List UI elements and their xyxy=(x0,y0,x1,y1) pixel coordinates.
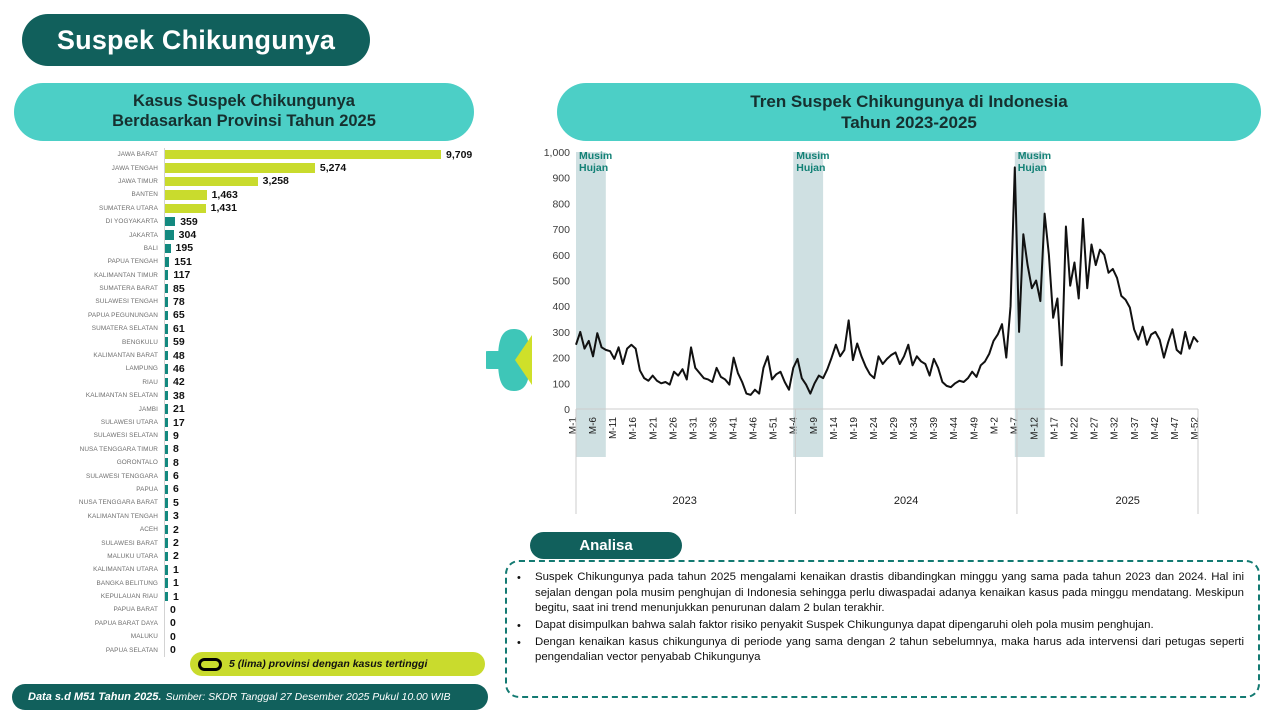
bar-track: 85 xyxy=(164,282,488,295)
bar-track: 46 xyxy=(164,362,488,375)
bar-fill xyxy=(165,498,168,508)
bar-fill xyxy=(165,565,168,575)
analisa-label-text: Analisa xyxy=(579,537,632,554)
bar-track: 1 xyxy=(164,577,488,590)
x-axis-tick-label: M-49 xyxy=(969,417,980,440)
bar-track: 2 xyxy=(164,550,488,563)
x-axis-tick-label: M-7 xyxy=(1009,417,1020,435)
bar-value-label: 151 xyxy=(174,256,192,268)
bar-value-label: 1,463 xyxy=(212,189,238,201)
bar-row: LAMPUNG46 xyxy=(58,362,488,375)
bar-chart-legend-text: 5 (lima) provinsi dengan kasus tertinggi xyxy=(229,658,427,670)
bar-value-label: 5,274 xyxy=(320,162,346,174)
x-axis-tick-label: M-2 xyxy=(989,417,1000,435)
right-chart-title: Tren Suspek Chikungunya di Indonesia Tah… xyxy=(557,83,1261,141)
bar-row: DI YOGYAKARTA359 xyxy=(58,215,488,228)
bar-value-label: 17 xyxy=(173,417,185,429)
bar-track: 195 xyxy=(164,242,488,255)
x-axis-tick-label: M-22 xyxy=(1070,417,1081,440)
bar-track: 3 xyxy=(164,510,488,523)
bar-fill xyxy=(165,404,168,414)
bar-chart-legend: 5 (lima) provinsi dengan kasus tertinggi xyxy=(190,652,485,676)
bar-row: SULAWESI SELATAN9 xyxy=(58,429,488,442)
bar-category-label: NUSA TENGGARA TIMUR xyxy=(58,446,164,453)
bar-track: 8 xyxy=(164,456,488,469)
bar-row: PAPUA PEGUNUNGAN65 xyxy=(58,309,488,322)
bar-value-label: 59 xyxy=(173,336,185,348)
bar-fill xyxy=(165,284,168,294)
bar-value-label: 78 xyxy=(173,296,185,308)
bar-track: 78 xyxy=(164,295,488,308)
bar-value-label: 0 xyxy=(170,631,176,643)
bar-fill xyxy=(165,378,168,388)
bar-value-label: 85 xyxy=(173,283,185,295)
bar-fill xyxy=(165,391,168,401)
bar-track: 59 xyxy=(164,335,488,348)
bar-category-label: BANTEN xyxy=(58,191,164,198)
x-axis-tick-label: M-51 xyxy=(769,417,780,440)
x-axis-tick-label: M-52 xyxy=(1190,417,1201,440)
bar-category-label: JAWA TENGAH xyxy=(58,165,164,172)
bar-category-label: SULAWESI UTARA xyxy=(58,419,164,426)
x-axis-tick-label: M-21 xyxy=(648,417,659,440)
y-axis-tick-label: 700 xyxy=(552,224,570,236)
y-axis-tick-label: 800 xyxy=(552,198,570,210)
bar-category-label: MALUKU xyxy=(58,633,164,640)
bar-category-label: SUMATERA BARAT xyxy=(58,285,164,292)
analisa-bullet-text: Dengan kenaikan kasus chikungunya di per… xyxy=(535,635,1244,666)
bar-track: 9,709 xyxy=(164,148,488,161)
bullet-icon: • xyxy=(517,635,525,666)
bar-category-label: KALIMANTAN TIMUR xyxy=(58,272,164,279)
bar-row: KALIMANTAN TENGAH3 xyxy=(58,510,488,523)
bar-row: JAMBI21 xyxy=(58,402,488,415)
bar-category-label: JAWA TIMUR xyxy=(58,178,164,185)
bar-category-label: BALI xyxy=(58,245,164,252)
bar-value-label: 0 xyxy=(170,604,176,616)
bar-row: GORONTALO8 xyxy=(58,456,488,469)
bar-row: ACEH2 xyxy=(58,523,488,536)
bar-category-label: PAPUA xyxy=(58,486,164,493)
right-chart-title-line2: Tahun 2023-2025 xyxy=(841,112,977,133)
bar-value-label: 0 xyxy=(170,617,176,629)
x-axis-tick-label: M-11 xyxy=(608,417,619,439)
bullet-icon: • xyxy=(517,570,525,617)
bar-track: 48 xyxy=(164,349,488,362)
bar-row: JAKARTA304 xyxy=(58,228,488,241)
bar-fill xyxy=(165,244,171,254)
bar-row: SUMATERA UTARA1,431 xyxy=(58,202,488,215)
bar-category-label: PAPUA BARAT xyxy=(58,606,164,613)
bar-category-label: PAPUA BARAT DAYA xyxy=(58,620,164,627)
x-axis-tick-label: M-14 xyxy=(829,417,840,440)
bar-category-label: RIAU xyxy=(58,379,164,386)
bar-fill xyxy=(165,311,168,321)
bar-track: 2 xyxy=(164,523,488,536)
bar-category-label: GORONTALO xyxy=(58,459,164,466)
rain-season-annotation: Musim Hujan xyxy=(579,150,625,174)
x-axis-tick-label: M-41 xyxy=(729,417,740,440)
bar-category-label: LAMPUNG xyxy=(58,365,164,372)
x-axis-tick-label: M-32 xyxy=(1110,417,1121,440)
bar-value-label: 42 xyxy=(173,376,185,388)
bar-track: 1,431 xyxy=(164,202,488,215)
rain-season-band xyxy=(793,152,823,457)
y-axis-tick-label: 500 xyxy=(552,276,570,288)
bar-row: KALIMANTAN SELATAN38 xyxy=(58,389,488,402)
bar-fill xyxy=(165,257,169,267)
y-axis-tick-label: 900 xyxy=(552,173,570,185)
bar-track: 42 xyxy=(164,376,488,389)
bar-track: 8 xyxy=(164,443,488,456)
bar-category-label: SULAWESI BARAT xyxy=(58,540,164,547)
bar-track: 5,274 xyxy=(164,161,488,174)
bar-fill xyxy=(165,552,168,562)
dashboard-canvas: Suspek Chikungunya Kasus Suspek Chikungu… xyxy=(0,0,1280,720)
bar-value-label: 48 xyxy=(173,350,185,362)
bar-row: BALI195 xyxy=(58,242,488,255)
x-axis-tick-label: M-29 xyxy=(889,417,900,440)
bar-category-label: JAMBI xyxy=(58,406,164,413)
bar-value-label: 9 xyxy=(173,430,179,442)
bar-track: 1 xyxy=(164,590,488,603)
bar-category-label: KALIMANTAN SELATAN xyxy=(58,392,164,399)
bar-row: MALUKU UTARA2 xyxy=(58,550,488,563)
bar-fill xyxy=(165,270,168,280)
footer-source-text: Sumber: SKDR Tanggal 27 Desember 2025 Pu… xyxy=(165,691,450,703)
bar-fill xyxy=(165,431,168,441)
bar-row: SUMATERA SELATAN61 xyxy=(58,322,488,335)
bar-value-label: 38 xyxy=(173,390,185,402)
bar-fill xyxy=(165,525,168,535)
bar-value-label: 65 xyxy=(173,309,185,321)
bar-category-label: SUMATERA SELATAN xyxy=(58,325,164,332)
bar-value-label: 8 xyxy=(173,443,179,455)
bar-track: 0 xyxy=(164,617,488,630)
bar-fill xyxy=(165,485,168,495)
bar-fill xyxy=(165,592,168,602)
bar-category-label: KALIMANTAN UTARA xyxy=(58,566,164,573)
bar-track: 3,258 xyxy=(164,175,488,188)
bar-row: PAPUA BARAT0 xyxy=(58,603,488,616)
bar-track: 65 xyxy=(164,309,488,322)
x-axis-tick-label: M-36 xyxy=(708,417,719,440)
bar-category-label: SULAWESI TENGGARA xyxy=(58,473,164,480)
bar-fill xyxy=(165,150,441,160)
bar-category-label: PAPUA TENGAH xyxy=(58,258,164,265)
x-axis-tick-label: M-31 xyxy=(688,417,699,440)
bar-value-label: 1 xyxy=(173,564,179,576)
bar-fill xyxy=(165,163,315,173)
right-chart-title-line1: Tren Suspek Chikungunya di Indonesia xyxy=(750,91,1067,112)
bar-fill xyxy=(165,538,168,548)
bar-track: 9 xyxy=(164,429,488,442)
bar-row: BENGKULU59 xyxy=(58,335,488,348)
left-chart-title-line2: Berdasarkan Provinsi Tahun 2025 xyxy=(112,112,376,132)
x-axis-year-label: 2025 xyxy=(1115,495,1139,507)
bar-value-label: 5 xyxy=(173,497,179,509)
analisa-bullet-item: •Dengan kenaikan kasus chikungunya di pe… xyxy=(517,635,1244,666)
left-chart-title-line1: Kasus Suspek Chikungunya xyxy=(133,92,355,112)
bar-row: PAPUA6 xyxy=(58,483,488,496)
bar-fill xyxy=(165,578,168,588)
bar-category-label: SUMATERA UTARA xyxy=(58,205,164,212)
x-axis-tick-label: M-39 xyxy=(929,417,940,440)
bar-value-label: 0 xyxy=(170,644,176,656)
y-axis-tick-label: 1,000 xyxy=(544,147,570,159)
bar-row: NUSA TENGGARA BARAT5 xyxy=(58,496,488,509)
bar-track: 1 xyxy=(164,563,488,576)
bar-category-label: DI YOGYAKARTA xyxy=(58,218,164,225)
bar-category-label: ACEH xyxy=(58,526,164,533)
bar-row: SULAWESI BARAT2 xyxy=(58,536,488,549)
bar-row: KALIMANTAN TIMUR117 xyxy=(58,269,488,282)
bar-value-label: 2 xyxy=(173,550,179,562)
rain-season-annotation: Musim Hujan xyxy=(796,150,842,174)
bar-track: 117 xyxy=(164,269,488,282)
analisa-bullet-item: •Suspek Chikungunya pada tahun 2025 meng… xyxy=(517,570,1244,617)
bar-fill xyxy=(165,511,168,521)
trend-line-path xyxy=(576,167,1198,394)
bar-track: 359 xyxy=(164,215,488,228)
bar-track: 6 xyxy=(164,483,488,496)
trend-line-svg: 01002003004005006007008009001,000M-1M-6M… xyxy=(530,144,1210,519)
bar-fill xyxy=(165,230,174,240)
bar-fill xyxy=(165,458,168,468)
bar-category-label: JAKARTA xyxy=(58,232,164,239)
bar-row: SULAWESI TENGAH78 xyxy=(58,295,488,308)
x-axis-tick-label: M-44 xyxy=(949,417,960,440)
x-axis-tick-label: M-4 xyxy=(789,417,800,435)
bar-fill xyxy=(165,445,168,455)
bar-fill xyxy=(165,190,207,200)
bar-track: 304 xyxy=(164,228,488,241)
x-axis-tick-label: M-27 xyxy=(1090,417,1101,440)
bar-fill xyxy=(165,471,168,481)
x-axis-tick-label: M-26 xyxy=(668,417,679,440)
bar-row: RIAU42 xyxy=(58,376,488,389)
bar-value-label: 2 xyxy=(173,524,179,536)
bar-row: SUMATERA BARAT85 xyxy=(58,282,488,295)
data-source-footer: Data s.d M51 Tahun 2025. Sumber: SKDR Ta… xyxy=(12,684,488,710)
bar-value-label: 1 xyxy=(173,577,179,589)
bar-value-label: 61 xyxy=(173,323,185,335)
bar-track: 61 xyxy=(164,322,488,335)
bar-row: PAPUA TENGAH151 xyxy=(58,255,488,268)
bar-row: KALIMANTAN BARAT48 xyxy=(58,349,488,362)
bar-fill xyxy=(165,177,258,187)
bar-fill xyxy=(165,364,168,374)
bar-track: 2 xyxy=(164,536,488,549)
y-axis-tick-label: 100 xyxy=(552,378,570,390)
x-axis-tick-label: M-47 xyxy=(1170,417,1181,440)
bar-category-label: PAPUA SELATAN xyxy=(58,647,164,654)
bar-category-label: PAPUA PEGUNUNGAN xyxy=(58,312,164,319)
trend-line-chart: 01002003004005006007008009001,000M-1M-6M… xyxy=(530,144,1210,519)
x-axis-tick-label: M-6 xyxy=(588,417,599,435)
y-axis-tick-label: 200 xyxy=(552,353,570,365)
x-axis-tick-label: M-12 xyxy=(1029,417,1040,440)
bar-value-label: 1,431 xyxy=(211,202,237,214)
bar-row: SULAWESI TENGGARA6 xyxy=(58,469,488,482)
x-axis-tick-label: M-34 xyxy=(909,417,920,440)
bar-track: 21 xyxy=(164,402,488,415)
analisa-bullet-text: Suspek Chikungunya pada tahun 2025 menga… xyxy=(535,570,1244,617)
bar-category-label: KALIMANTAN BARAT xyxy=(58,352,164,359)
bar-track: 1,463 xyxy=(164,188,488,201)
bar-fill xyxy=(165,297,168,307)
bar-value-label: 9,709 xyxy=(446,149,472,161)
bar-value-label: 2 xyxy=(173,537,179,549)
bar-value-label: 117 xyxy=(173,269,190,281)
bar-track: 6 xyxy=(164,469,488,482)
x-axis-tick-label: M-16 xyxy=(628,417,639,440)
x-axis-year-label: 2024 xyxy=(894,495,918,507)
bar-track: 0 xyxy=(164,603,488,616)
bar-row: NUSA TENGGARA TIMUR8 xyxy=(58,443,488,456)
x-axis-year-label: 2023 xyxy=(672,495,696,507)
bar-fill xyxy=(165,337,168,347)
rain-season-annotation: Musim Hujan xyxy=(1018,150,1064,174)
left-chart-title: Kasus Suspek Chikungunya Berdasarkan Pro… xyxy=(14,83,474,141)
y-axis-tick-label: 0 xyxy=(564,404,570,416)
bar-row: JAWA TENGAH5,274 xyxy=(58,161,488,174)
analisa-label: Analisa xyxy=(530,532,682,559)
x-axis-tick-label: M-17 xyxy=(1050,417,1061,440)
bar-row: SULAWESI UTARA17 xyxy=(58,416,488,429)
x-axis-tick-label: M-42 xyxy=(1150,417,1161,440)
pill-outline-icon xyxy=(198,658,222,671)
x-axis-tick-label: M-1 xyxy=(568,417,579,435)
bar-row: JAWA TIMUR3,258 xyxy=(58,175,488,188)
bar-category-label: SULAWESI TENGAH xyxy=(58,298,164,305)
bar-category-label: SULAWESI SELATAN xyxy=(58,432,164,439)
bar-category-label: NUSA TENGGARA BARAT xyxy=(58,499,164,506)
bar-track: 17 xyxy=(164,416,488,429)
x-axis-tick-label: M-37 xyxy=(1130,417,1141,440)
bar-value-label: 8 xyxy=(173,457,179,469)
x-axis-tick-label: M-19 xyxy=(849,417,860,440)
footer-bold-text: Data s.d M51 Tahun 2025. xyxy=(28,691,161,703)
rain-season-band xyxy=(576,152,606,457)
bar-value-label: 1 xyxy=(173,591,179,603)
y-axis-tick-label: 300 xyxy=(552,327,570,339)
analisa-bullet-text: Dapat disimpulkan bahwa salah faktor ris… xyxy=(535,618,1244,634)
bar-value-label: 6 xyxy=(173,470,179,482)
bar-category-label: KEPULAUAN RIAU xyxy=(58,593,164,600)
bullet-icon: • xyxy=(517,618,525,634)
x-axis-tick-label: M-9 xyxy=(809,417,820,435)
analisa-bullet-item: •Dapat disimpulkan bahwa salah faktor ri… xyxy=(517,618,1244,634)
bar-track: 38 xyxy=(164,389,488,402)
bar-row: MALUKU0 xyxy=(58,630,488,643)
bar-value-label: 359 xyxy=(180,216,198,228)
bar-fill xyxy=(165,324,168,334)
bar-category-label: MALUKU UTARA xyxy=(58,553,164,560)
bar-category-label: BANGKA BELITUNG xyxy=(58,580,164,587)
x-axis-tick-label: M-24 xyxy=(869,417,880,440)
bar-value-label: 21 xyxy=(173,403,185,415)
bar-fill xyxy=(165,418,168,428)
bar-row: BANTEN1,463 xyxy=(58,188,488,201)
bar-value-label: 46 xyxy=(173,363,185,375)
bar-track: 151 xyxy=(164,255,488,268)
province-bar-chart: JAWA BARAT9,709JAWA TENGAH5,274JAWA TIMU… xyxy=(58,148,488,668)
bar-value-label: 304 xyxy=(179,229,197,241)
bar-value-label: 6 xyxy=(173,483,179,495)
bar-fill xyxy=(165,217,175,227)
bar-fill xyxy=(165,204,206,214)
y-axis-tick-label: 400 xyxy=(552,301,570,313)
bar-track: 5 xyxy=(164,496,488,509)
bar-category-label: BENGKULU xyxy=(58,339,164,346)
bar-row: BANGKA BELITUNG1 xyxy=(58,577,488,590)
page-title-text: Suspek Chikungunya xyxy=(57,25,335,56)
bar-category-label: KALIMANTAN TENGAH xyxy=(58,513,164,520)
analisa-content: •Suspek Chikungunya pada tahun 2025 meng… xyxy=(505,560,1260,698)
x-axis-tick-label: M-46 xyxy=(749,417,760,440)
y-axis-tick-label: 600 xyxy=(552,250,570,262)
bar-value-label: 3,258 xyxy=(263,175,289,187)
bar-value-label: 195 xyxy=(176,242,194,254)
bar-value-label: 3 xyxy=(173,510,179,522)
bar-row: KALIMANTAN UTARA1 xyxy=(58,563,488,576)
bar-row: JAWA BARAT9,709 xyxy=(58,148,488,161)
bar-category-label: JAWA BARAT xyxy=(58,151,164,158)
page-title: Suspek Chikungunya xyxy=(22,14,370,66)
bar-row: KEPULAUAN RIAU1 xyxy=(58,590,488,603)
decorative-logo-icon xyxy=(486,325,534,395)
bar-track: 0 xyxy=(164,630,488,643)
bar-fill xyxy=(165,351,168,361)
bar-row: PAPUA BARAT DAYA0 xyxy=(58,617,488,630)
